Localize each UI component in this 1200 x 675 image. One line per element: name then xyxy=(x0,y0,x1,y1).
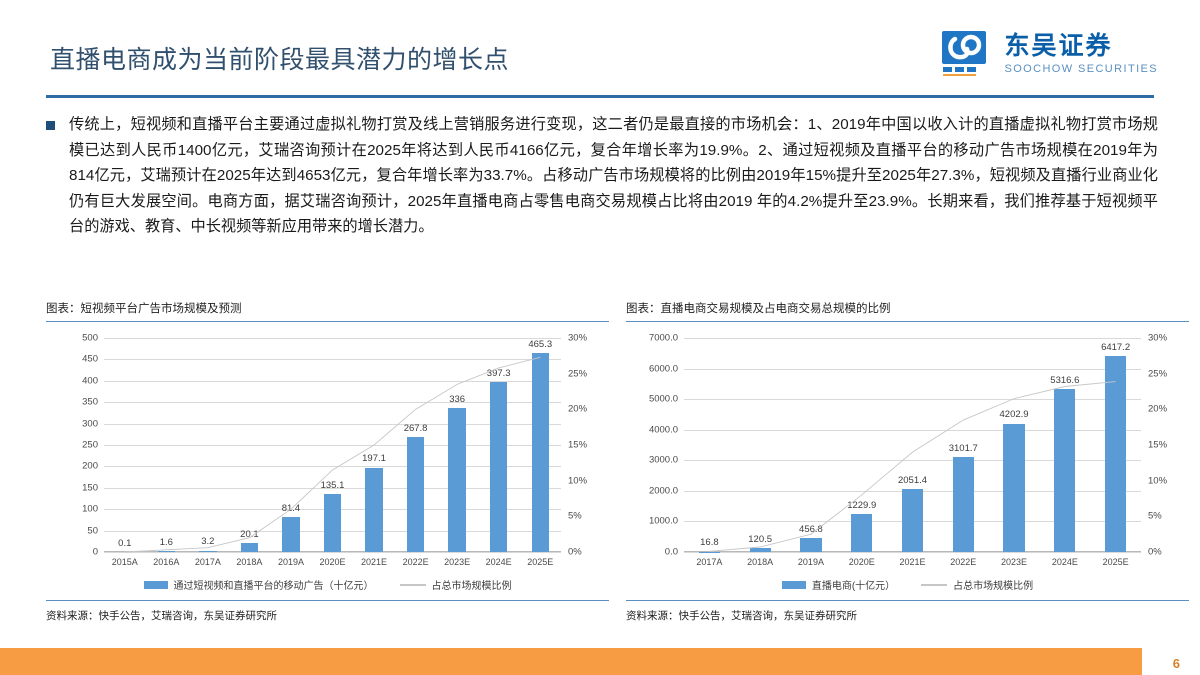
legend-item: 通过短视频和直播平台的移动广告（十亿元） xyxy=(144,577,374,592)
y-axis-tick: 6000.0 xyxy=(649,363,678,374)
x-axis-tick: 2016A xyxy=(153,557,179,567)
y-axis-tick: 100 xyxy=(82,504,98,515)
y2-axis-tick: 5% xyxy=(1148,511,1162,522)
legend-label: 占总市场规模比例 xyxy=(953,577,1033,592)
y2-axis-tick: 25% xyxy=(1148,368,1167,379)
x-axis-tick: 2020E xyxy=(319,557,345,567)
x-axis-tick: 2025E xyxy=(527,557,553,567)
chart-left-caption: 图表：短视频平台广告市场规模及预测 xyxy=(46,300,609,321)
page-title: 直播电商成为当前阶段最具潜力的增长点 xyxy=(50,40,509,76)
y2-axis-tick: 15% xyxy=(568,440,587,451)
body-paragraph: 传统上，短视频和直播平台主要通过虚拟礼物打赏及线上营销服务进行变现，这二者仍是最… xyxy=(69,112,1158,240)
y2-axis-tick: 25% xyxy=(568,368,587,379)
company-logo: 东吴证券 SOOCHOW SECURITIES xyxy=(941,30,1158,78)
header-divider xyxy=(46,95,1154,98)
x-axis-tick: 2022E xyxy=(950,557,976,567)
x-axis-tick: 2020E xyxy=(849,557,875,567)
y-axis-tick: 7000.0 xyxy=(649,333,678,344)
bullet-square-icon xyxy=(46,121,55,130)
y-axis-tick: 50 xyxy=(87,525,98,536)
gridline xyxy=(684,552,1141,553)
chart-left-legend: 通过短视频和直播平台的移动广告（十亿元）占总市场规模比例 xyxy=(46,577,609,592)
y2-axis-tick: 5% xyxy=(568,511,582,522)
logo-chinese-name: 东吴证券 xyxy=(1004,34,1158,59)
y2-axis-tick: 0% xyxy=(1148,547,1162,558)
x-axis-tick: 2024E xyxy=(1052,557,1078,567)
legend-item: 直播电商(十亿元） xyxy=(782,577,895,592)
legend-bar-swatch-icon xyxy=(144,581,168,589)
y-axis-tick: 4000.0 xyxy=(649,424,678,435)
x-axis-tick: 2019A xyxy=(798,557,824,567)
x-axis-tick: 2018A xyxy=(236,557,262,567)
y-axis-tick: 350 xyxy=(82,397,98,408)
y2-axis-tick: 30% xyxy=(1148,333,1167,344)
y-axis-tick: 450 xyxy=(82,354,98,365)
y-axis-tick: 200 xyxy=(82,461,98,472)
x-axis-tick: 2024E xyxy=(486,557,512,567)
footer-bar xyxy=(0,648,1200,675)
y-axis-tick: 150 xyxy=(82,482,98,493)
y2-axis-tick: 10% xyxy=(568,475,587,486)
y-axis-tick: 2000.0 xyxy=(649,485,678,496)
y-axis-tick: 400 xyxy=(82,375,98,386)
chart-right-caption: 图表：直播电商交易规模及占电商交易总规模的比例 xyxy=(626,300,1189,321)
y2-axis-tick: 0% xyxy=(568,547,582,558)
legend-line-swatch-icon xyxy=(400,584,426,586)
x-axis-tick: 2015A xyxy=(112,557,138,567)
legend-item: 占总市场规模比例 xyxy=(921,577,1033,592)
y2-axis-tick: 10% xyxy=(1148,475,1167,486)
chart-right-legend: 直播电商(十亿元）占总市场规模比例 xyxy=(626,577,1189,592)
x-axis-tick: 2023E xyxy=(1001,557,1027,567)
chart-right-caption-divider xyxy=(626,321,1189,322)
x-axis-tick: 2017A xyxy=(195,557,221,567)
x-axis-tick: 2023E xyxy=(444,557,470,567)
gridline xyxy=(104,552,561,553)
trend-line xyxy=(684,338,1141,552)
chart-left: 0501001502002503003504004505000%5%10%15%… xyxy=(46,330,609,598)
y-axis-tick: 250 xyxy=(82,440,98,451)
chart-panel-left: 图表：短视频平台广告市场规模及预测 0501001502002503003504… xyxy=(46,300,609,660)
x-axis-tick: 2017A xyxy=(696,557,722,567)
chart-left-caption-divider xyxy=(46,321,609,322)
slide-header: 直播电商成为当前阶段最具潜力的增长点 东吴证券 SOOCHOW SECURITI… xyxy=(0,0,1200,97)
chart-right-plot: 0.01000.02000.03000.04000.05000.06000.07… xyxy=(684,338,1141,552)
logo-english-name: SOOCHOW SECURITIES xyxy=(1004,64,1158,75)
trend-line xyxy=(104,338,561,552)
page-number: 6 xyxy=(1173,656,1180,671)
x-axis-tick: 2018A xyxy=(747,557,773,567)
legend-line-swatch-icon xyxy=(921,584,947,586)
y-axis-tick: 3000.0 xyxy=(649,455,678,466)
x-axis-tick: 2021E xyxy=(899,557,925,567)
chart-left-plot: 0501001502002503003504004505000%5%10%15%… xyxy=(104,338,561,552)
legend-label: 直播电商(十亿元） xyxy=(812,577,895,592)
legend-bar-swatch-icon xyxy=(782,581,806,589)
y-axis-tick: 0 xyxy=(93,547,98,558)
y2-axis-tick: 20% xyxy=(1148,404,1167,415)
x-axis-tick: 2022E xyxy=(403,557,429,567)
x-axis-tick: 2019A xyxy=(278,557,304,567)
x-axis-tick: 2025E xyxy=(1103,557,1129,567)
chart-right: 0.01000.02000.03000.04000.05000.06000.07… xyxy=(626,330,1189,598)
y-axis-tick: 300 xyxy=(82,418,98,429)
soochow-logo-icon xyxy=(941,30,995,78)
y-axis-tick: 0.0 xyxy=(665,547,678,558)
chart-panel-right: 图表：直播电商交易规模及占电商交易总规模的比例 0.01000.02000.03… xyxy=(626,300,1189,660)
x-axis-tick: 2021E xyxy=(361,557,387,567)
body-paragraph-block: 传统上，短视频和直播平台主要通过虚拟礼物打赏及线上营销服务进行变现，这二者仍是最… xyxy=(46,112,1158,240)
legend-label: 通过短视频和直播平台的移动广告（十亿元） xyxy=(174,577,374,592)
legend-item: 占总市场规模比例 xyxy=(400,577,512,592)
y2-axis-tick: 20% xyxy=(568,404,587,415)
legend-label: 占总市场规模比例 xyxy=(432,577,512,592)
y-axis-tick: 1000.0 xyxy=(649,516,678,527)
y-axis-tick: 500 xyxy=(82,333,98,344)
chart-left-source: 资料来源：快手公告，艾瑞咨询，东吴证券研究所 xyxy=(46,601,609,623)
chart-right-source: 资料来源：快手公告，艾瑞咨询，东吴证券研究所 xyxy=(626,601,1189,623)
y-axis-tick: 5000.0 xyxy=(649,394,678,405)
slide: 直播电商成为当前阶段最具潜力的增长点 东吴证券 SOOCHOW SECURITI… xyxy=(0,0,1200,675)
footer-notch xyxy=(1142,648,1200,675)
y2-axis-tick: 15% xyxy=(1148,440,1167,451)
y2-axis-tick: 30% xyxy=(568,333,587,344)
